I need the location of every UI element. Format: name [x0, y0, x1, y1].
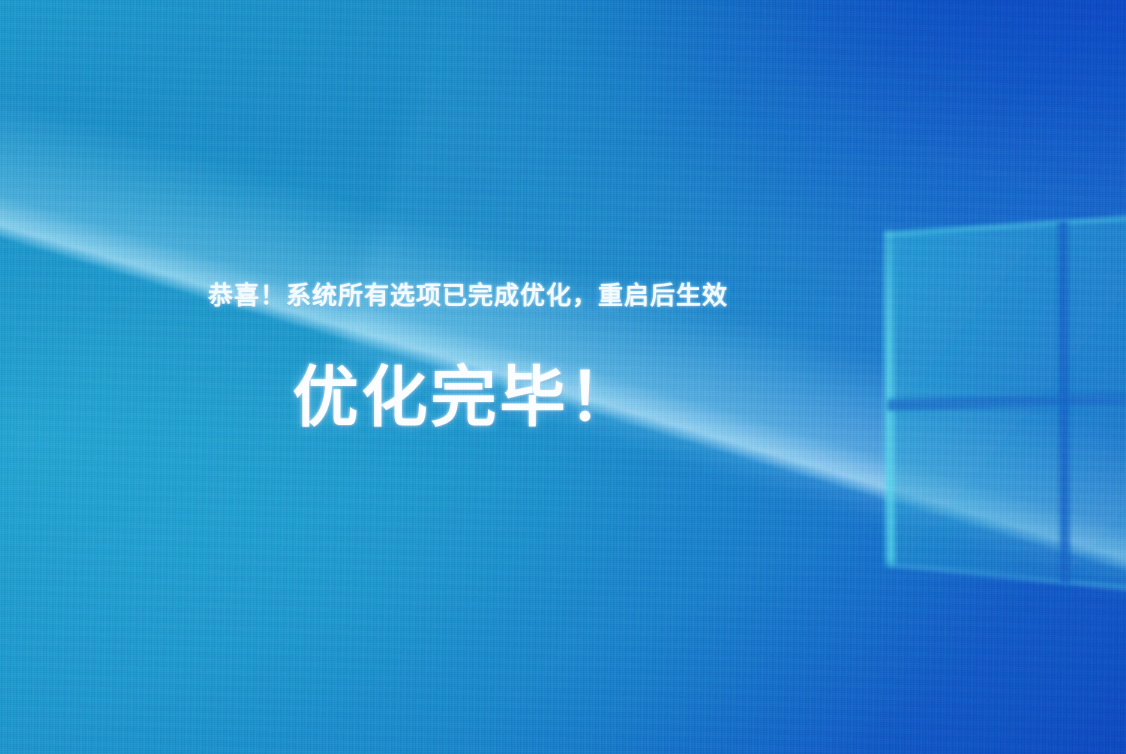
- desktop-screenshot: 恭喜！系统所有选项已完成优化，重启后生效 优化完毕！: [0, 0, 1126, 754]
- wallpaper-cyan-wash: [0, 0, 1126, 754]
